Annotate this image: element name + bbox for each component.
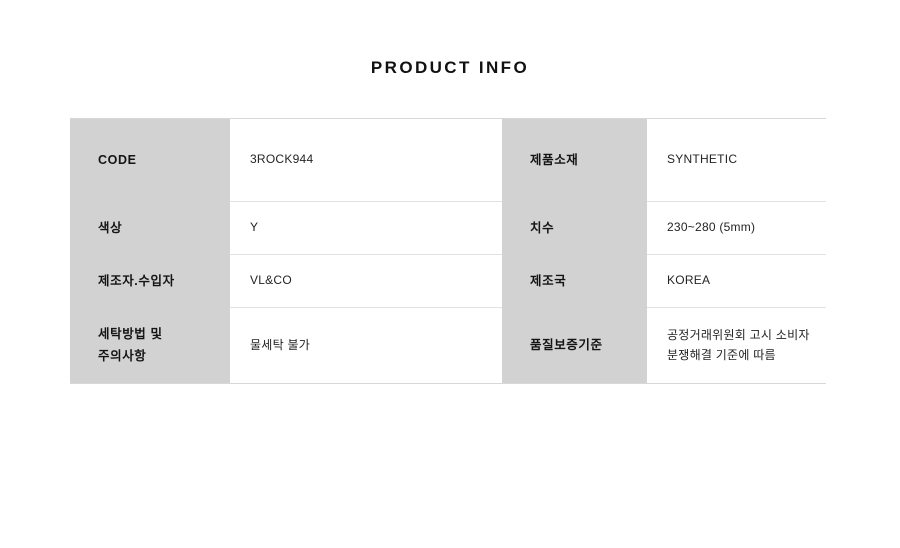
table-row: 색상 Y <box>70 202 502 255</box>
row-label-origin: 제조국 <box>502 255 647 308</box>
row-label-line: CODE <box>98 150 137 172</box>
row-value-color: Y <box>230 202 502 255</box>
row-label-line: 품질보증기준 <box>530 335 603 357</box>
row-value-line: 230~280 (5mm) <box>667 218 755 238</box>
row-value-line: 3ROCK944 <box>250 150 313 170</box>
table-row: CODE 3ROCK944 <box>70 119 502 202</box>
row-label-material: 제품소재 <box>502 119 647 202</box>
row-value-line: VL&CO <box>250 271 292 291</box>
product-info-table-left-column: CODE 3ROCK944 색상 Y <box>70 119 502 383</box>
page-title: PRODUCT INFO <box>0 58 900 78</box>
row-label-line: 치수 <box>530 218 554 240</box>
table-row: 제품소재 SYNTHETIC <box>502 119 826 202</box>
product-info-table: CODE 3ROCK944 색상 Y <box>70 118 826 384</box>
row-label-line: 제품소재 <box>530 150 578 172</box>
row-value-warranty: 공정거래위원회 고시 소비자 분쟁해결 기준에 따름 <box>647 308 826 383</box>
table-row: 제조자.수입자 VL&CO <box>70 255 502 308</box>
row-value-line: 물세탁 불가 <box>250 336 310 356</box>
row-value-manufacturer: VL&CO <box>230 255 502 308</box>
row-value-size: 230~280 (5mm) <box>647 202 826 255</box>
row-value-washing: 물세탁 불가 <box>230 308 502 383</box>
row-label-color: 색상 <box>70 202 230 255</box>
row-label-manufacturer: 제조자.수입자 <box>70 255 230 308</box>
row-label-washing: 세탁방법 및 주의사항 <box>70 308 230 383</box>
table-row: 품질보증기준 공정거래위원회 고시 소비자 분쟁해결 기준에 따름 <box>502 308 826 383</box>
row-value-line: KOREA <box>667 271 710 291</box>
row-value-origin: KOREA <box>647 255 826 308</box>
row-label-line: 세탁방법 및 <box>98 324 163 346</box>
table-row: 치수 230~280 (5mm) <box>502 202 826 255</box>
product-info-table-right-column: 제품소재 SYNTHETIC 치수 230~280 (5m <box>502 119 826 383</box>
table-row: 제조국 KOREA <box>502 255 826 308</box>
row-label-line: 제조국 <box>530 271 566 293</box>
row-label-line: 색상 <box>98 218 122 240</box>
row-label-line: 제조자.수입자 <box>98 271 175 293</box>
row-value-line: 공정거래위원회 고시 소비자 <box>667 326 810 346</box>
row-value-code: 3ROCK944 <box>230 119 502 202</box>
row-label-size: 치수 <box>502 202 647 255</box>
row-value-line: Y <box>250 218 258 238</box>
row-label-warranty: 품질보증기준 <box>502 308 647 383</box>
product-info-page: PRODUCT INFO CODE 3ROCK944 색상 <box>0 0 900 548</box>
table-row: 세탁방법 및 주의사항 물세탁 불가 <box>70 308 502 383</box>
row-label-line: 주의사항 <box>98 346 163 368</box>
row-label-code: CODE <box>70 119 230 202</box>
row-value-line: 분쟁해결 기준에 따름 <box>667 346 810 366</box>
row-value-line: SYNTHETIC <box>667 150 737 170</box>
row-value-material: SYNTHETIC <box>647 119 826 202</box>
